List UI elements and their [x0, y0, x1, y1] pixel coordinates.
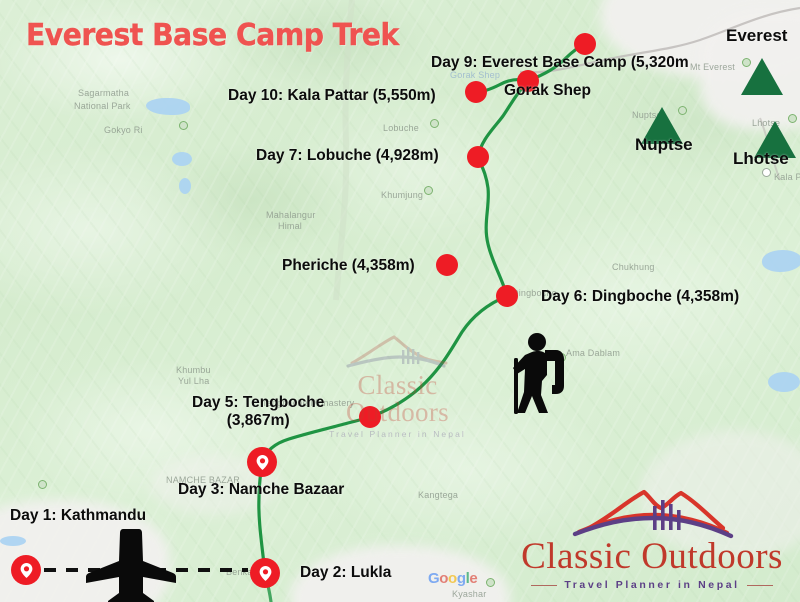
stop-dot-marker-pheriche[interactable]	[436, 254, 458, 276]
brand-tagline-row: Travel Planner in Nepal	[506, 579, 798, 591]
stop-label-pheriche: Pheriche (4,358m)	[282, 257, 415, 275]
stop-label-tengboche: Day 5: Tengboche(3,867m)	[192, 394, 324, 431]
stop-label-kalapattar: Day 10: Kala Pattar (5,550m)	[228, 87, 436, 105]
tagline-rule-left	[531, 585, 557, 586]
location-pin-marker-kathmandu[interactable]	[11, 555, 41, 585]
stop-dot-marker-tengboche[interactable]	[359, 406, 381, 428]
stop-label-line-1: Day 2: Lukla	[300, 564, 391, 582]
stop-label-line-1: Day 1: Kathmandu	[10, 507, 146, 525]
stop-dot-marker-dingboche[interactable]	[496, 285, 518, 307]
brand-tagline: Travel Planner in Nepal	[564, 579, 739, 591]
hiker-icon	[505, 330, 575, 416]
stop-label-line-1: Day 6: Dingboche (4,358m)	[541, 288, 739, 306]
location-pin-marker-lukla[interactable]	[250, 558, 280, 588]
airplane-icon	[82, 525, 186, 602]
stop-label-line-1: Day 5: Tengboche	[192, 394, 324, 412]
tagline-rule-right	[747, 585, 773, 586]
stop-label-ebc: Day 9: Everest Base Camp (5,320m	[431, 54, 689, 72]
stop-label-namche: Day 3: Namche Bazaar	[178, 481, 344, 499]
stop-dot-marker-lobuche[interactable]	[467, 146, 489, 168]
page-title: Everest Base Camp Trek	[26, 18, 399, 53]
stop-label-line-1: Day 3: Namche Bazaar	[178, 481, 344, 499]
stop-dot-marker-ebc[interactable]	[574, 33, 596, 55]
brand-name: Classic Outdoors	[506, 538, 798, 575]
stop-dot-marker-kalapattar[interactable]	[465, 81, 487, 103]
location-pin-marker-namche[interactable]	[247, 447, 277, 477]
stop-label-line-1: Day 9: Everest Base Camp (5,320m	[431, 54, 689, 72]
peak-label-nuptse: Nuptse	[635, 135, 693, 155]
stop-label-line-1: Day 10: Kala Pattar (5,550m)	[228, 87, 436, 105]
map-canvas: SagarmathaNational ParkGokyo RiLobucheKh…	[0, 0, 800, 602]
peak-label-everest: Everest	[726, 26, 787, 46]
stop-label-line-1: Gorak Shep	[504, 82, 591, 100]
stop-label-gorakshep: Gorak Shep	[504, 82, 591, 100]
google-attribution: Google	[428, 570, 477, 587]
stop-label-dingboche: Day 6: Dingboche (4,358m)	[541, 288, 739, 306]
map-pin-icon	[19, 562, 34, 579]
peak-label-lhotse: Lhotse	[733, 149, 789, 169]
stop-label-line-2: (3,867m)	[192, 412, 324, 430]
map-pin-icon	[258, 565, 273, 582]
stop-label-kathmandu: Day 1: Kathmandu	[10, 507, 146, 525]
stop-label-lobuche: Day 7: Lobuche (4,928m)	[256, 147, 439, 165]
stop-label-lukla: Day 2: Lukla	[300, 564, 391, 582]
stop-label-line-1: Pheriche (4,358m)	[282, 257, 415, 275]
peak-marker-everest[interactable]	[741, 58, 783, 95]
stop-label-line-1: Day 7: Lobuche (4,928m)	[256, 147, 439, 165]
map-pin-icon	[255, 454, 270, 471]
brand-logo: Classic Outdoors Travel Planner in Nepal	[506, 484, 798, 591]
